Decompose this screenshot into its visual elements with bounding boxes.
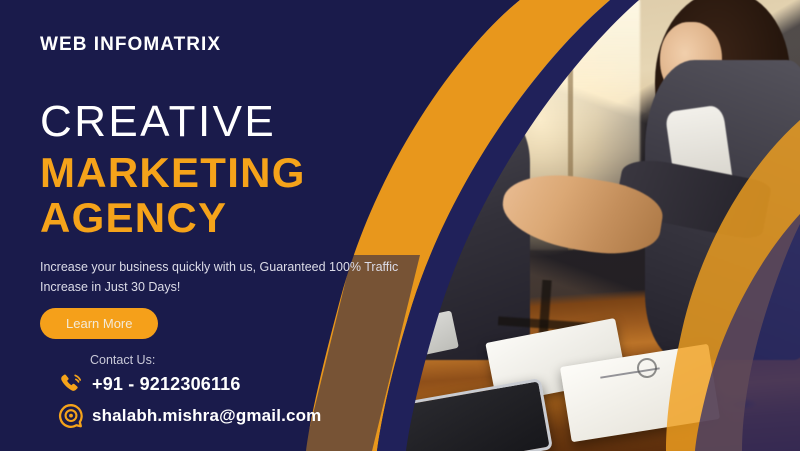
contact-email-address: shalabh.mishra@gmail.com: [92, 406, 321, 426]
headline-line-1: CREATIVE: [40, 100, 400, 145]
chat-bubble-icon: [56, 401, 86, 431]
hero-photo: [390, 0, 800, 451]
banner-content: WEB INFOMATRIX CREATIVE MARKETING AGENCY…: [0, 0, 400, 451]
contact-label: Contact Us:: [90, 353, 400, 367]
tablet-device: [390, 378, 553, 451]
contact-phone-number: +91 - 9212306116: [92, 374, 241, 395]
headline-line-3: AGENCY: [40, 196, 400, 241]
marketing-banner: WEB INFOMATRIX CREATIVE MARKETING AGENCY…: [0, 0, 800, 451]
contact-section: Contact Us: +91 - 9212306116: [40, 353, 400, 431]
headline-line-2: MARKETING: [40, 151, 400, 196]
learn-more-button[interactable]: Learn More: [40, 308, 158, 339]
brand-logo: WEB INFOMATRIX: [40, 34, 400, 56]
subtitle-text: Increase your business quickly with us, …: [40, 257, 400, 298]
phone-ringing-icon: [56, 369, 86, 399]
contact-phone-row[interactable]: +91 - 9212306116: [40, 369, 400, 399]
contact-email-row[interactable]: shalabh.mishra@gmail.com: [40, 401, 400, 431]
office-handshake-photo: [390, 0, 800, 451]
